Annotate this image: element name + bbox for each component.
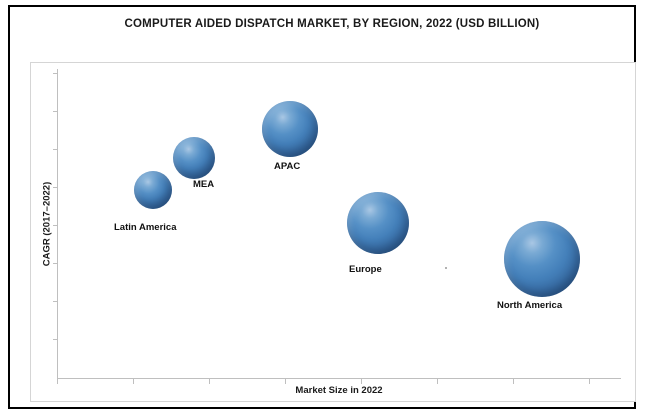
bubble-latin-america[interactable] xyxy=(134,171,172,209)
bubble-mea[interactable] xyxy=(173,137,215,179)
y-tick-7 xyxy=(53,339,58,340)
x-axis-line xyxy=(57,378,621,379)
bubble-north-america[interactable] xyxy=(504,221,580,297)
y-tick-6 xyxy=(53,301,58,302)
y-axis-label: CAGR (2017–2022) xyxy=(42,182,53,267)
y-tick-1 xyxy=(53,111,58,112)
x-axis-label: Market Size in 2022 xyxy=(57,385,621,396)
bubble-label-europe: Europe xyxy=(349,264,382,275)
x-tick-4 xyxy=(361,379,362,384)
y-tick-0 xyxy=(53,73,58,74)
bubble-label-latin-america: Latin America xyxy=(114,222,176,233)
x-tick-3 xyxy=(285,379,286,384)
x-tick-2 xyxy=(209,379,210,384)
x-tick-1 xyxy=(133,379,134,384)
bubble-label-north-america: North America xyxy=(497,300,562,311)
bubble-apac[interactable] xyxy=(262,101,318,157)
y-tick-5 xyxy=(53,263,58,264)
x-tick-0 xyxy=(57,379,58,384)
y-tick-2 xyxy=(53,149,58,150)
y-axis-line xyxy=(57,69,58,379)
bubble-chart-root: COMPUTER AIDED DISPATCH MARKET, BY REGIO… xyxy=(0,0,646,417)
bubble-europe[interactable] xyxy=(347,192,409,254)
bubble-label-mea: MEA xyxy=(193,179,214,190)
page-title: COMPUTER AIDED DISPATCH MARKET, BY REGIO… xyxy=(24,18,640,30)
chart-outer-frame: COMPUTER AIDED DISPATCH MARKET, BY REGIO… xyxy=(8,5,636,409)
x-tick-6 xyxy=(513,379,514,384)
y-tick-3 xyxy=(53,187,58,188)
x-tick-7 xyxy=(589,379,590,384)
bubble-label-apac: APAC xyxy=(274,161,300,172)
x-tick-5 xyxy=(437,379,438,384)
stray-dot-artifact xyxy=(445,267,447,269)
y-tick-4 xyxy=(53,225,58,226)
